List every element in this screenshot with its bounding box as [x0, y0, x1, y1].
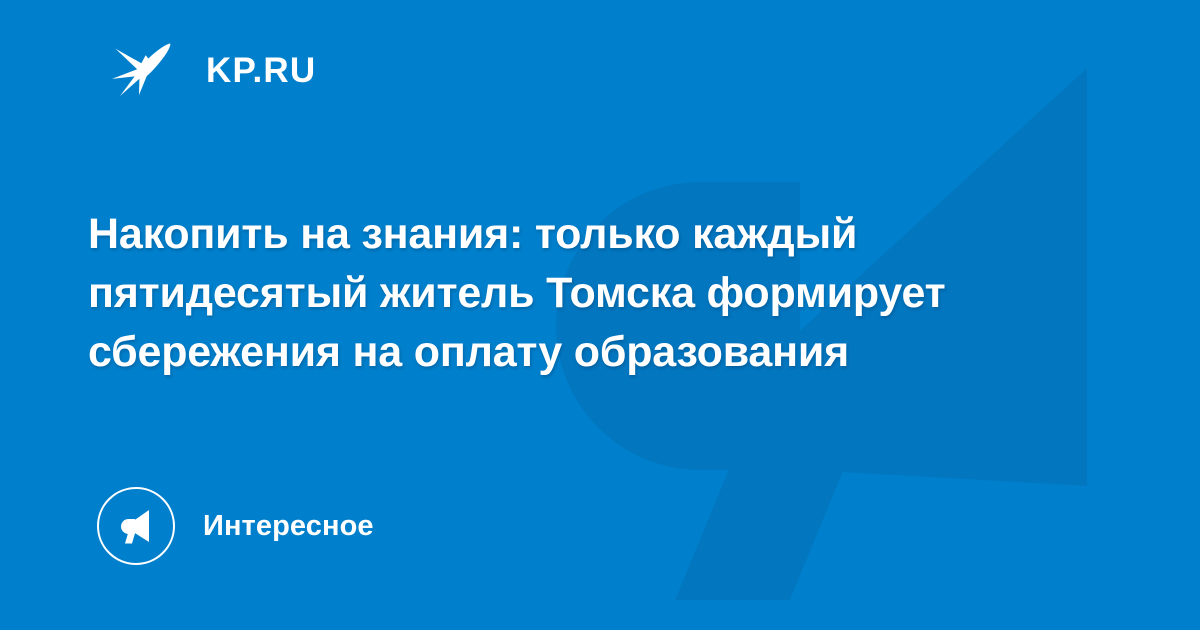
logo-text: KP.RU — [206, 53, 316, 88]
swallow-icon — [108, 33, 182, 107]
page-title: Накопить на знания: только каждый пятиде… — [88, 205, 1048, 382]
category-badge[interactable]: Интересное — [97, 487, 374, 565]
badge-circle — [97, 487, 175, 565]
category-label: Интересное — [203, 510, 374, 543]
site-logo[interactable]: KP.RU — [108, 33, 316, 107]
share-card: KP.RU Накопить на знания: только каждый … — [0, 0, 1200, 630]
megaphone-icon — [115, 505, 157, 547]
